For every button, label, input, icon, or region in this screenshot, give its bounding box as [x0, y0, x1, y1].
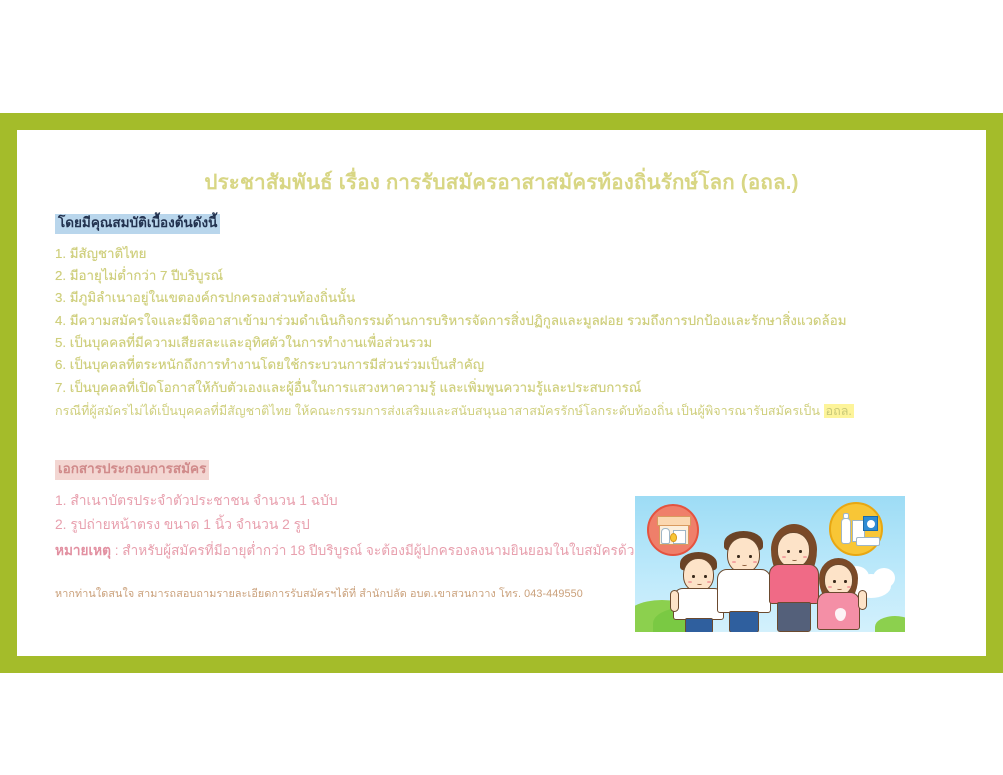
- qualification-note-text: กรณีที่ผู้สมัครไม่ได้เป็นบุคคลที่มีสัญชา…: [55, 404, 824, 418]
- eye-shape: [704, 575, 707, 578]
- remark-line: หมายเหตุ : สำหรับผู้สมัครที่มีอายุต่ำกว่…: [55, 539, 655, 563]
- cheek-shape: [707, 581, 711, 583]
- legs-shape: [777, 602, 811, 632]
- qualifications-heading: โดยมีคุณสมบัติเบื้องต้นดังนี้: [55, 214, 220, 234]
- eye-shape: [692, 575, 695, 578]
- documents-list: 1. สำเนาบัตรประจำตัวประชาชน จำนวน 1 ฉบับ…: [55, 489, 655, 538]
- list-item: 5. เป็นบุคคลที่มีความเสียสละและอุทิศตัวใ…: [55, 332, 817, 354]
- list-item: 1. มีสัญชาติไทย: [55, 243, 817, 265]
- eye-shape: [787, 550, 790, 553]
- carton-dot-shape: [867, 520, 875, 528]
- eye-shape: [833, 580, 836, 583]
- recyclable-items-icon: [829, 502, 883, 556]
- cheek-shape: [732, 561, 736, 563]
- cheek-shape: [847, 586, 851, 588]
- newspaper-bundle-shape: [856, 537, 880, 546]
- legs-shape: [729, 611, 759, 633]
- eye-shape: [737, 555, 740, 558]
- bulb-shape: [670, 533, 677, 542]
- qualification-note: กรณีที่ผู้สมัครไม่ได้เป็นบุคคลที่มีสัญชา…: [55, 400, 817, 422]
- list-item: 1. สำเนาบัตรประจำตัวประชาชน จำนวน 1 ฉบับ: [55, 489, 655, 514]
- eye-shape: [844, 580, 847, 583]
- mouth-shape: [742, 564, 747, 566]
- remark-label: หมายเหตุ: [55, 543, 111, 558]
- shirt-shape: [769, 564, 819, 604]
- poster-frame-inner: ประชาสัมพันธ์ เรื่อง การรับสมัครอาสาสมัค…: [17, 130, 986, 656]
- documents-heading: เอกสารประกอบการสมัคร: [55, 460, 209, 480]
- ground-strip: [635, 632, 905, 646]
- bottle-shape: [661, 528, 670, 544]
- arm-shape: [670, 590, 679, 612]
- waste-bag-icon: [647, 504, 699, 556]
- list-item: 7. เป็นบุคคลที่เปิดโอกาสให้กับตัวเองและผ…: [55, 377, 817, 399]
- family-recycling-illustration: [635, 496, 905, 646]
- list-item: 2. รูปถ่ายหน้าตรง ขนาด 1 นิ้ว จำนวน 2 รู…: [55, 513, 655, 538]
- list-item: 4. มีความสมัครใจและมีจิตอาสาเข้ามาร่วมดำ…: [55, 310, 817, 332]
- qualification-note-highlight: อถล.: [824, 404, 854, 418]
- arm-shape: [858, 590, 867, 610]
- head-shape: [727, 537, 760, 573]
- mouth-shape: [837, 588, 842, 590]
- cheek-shape: [753, 561, 757, 563]
- plastic-bottle-shape: [841, 518, 851, 544]
- cloud-icon: [873, 568, 895, 588]
- list-item: 2. มีอายุไม่ต่ำกว่า 7 ปีบริบูรณ์: [55, 265, 817, 287]
- child-girl-figure: [813, 556, 865, 632]
- qualifications-list: 1. มีสัญชาติไทย 2. มีอายุไม่ต่ำกว่า 7 ปี…: [55, 243, 817, 399]
- footer-contact: หากท่านใดสนใจ สามารถสอบถามรายละเอียดการร…: [55, 585, 583, 602]
- cheek-shape: [688, 581, 692, 583]
- cheek-shape: [828, 586, 832, 588]
- qualifications-section: โดยมีคุณสมบัติเบื้องต้นดังนี้ 1. มีสัญชา…: [55, 214, 817, 422]
- documents-section: เอกสารประกอบการสมัคร 1. สำเนาบัตรประจำตั…: [55, 460, 655, 563]
- poster-canvas: ประชาสัมพันธ์ เรื่อง การรับสมัครอาสาสมัค…: [0, 0, 1003, 775]
- mouth-shape: [697, 583, 702, 585]
- cheek-shape: [803, 556, 807, 558]
- list-item: 6. เป็นบุคคลที่ตระหนักถึงการทำงานโดยใช้ก…: [55, 354, 817, 376]
- bottle-cap-shape: [843, 513, 849, 519]
- head-shape: [683, 558, 714, 592]
- eye-shape: [799, 550, 802, 553]
- head-shape: [777, 532, 810, 568]
- poster-frame: ประชาสัมพันธ์ เรื่อง การรับสมัครอาสาสมัค…: [0, 113, 1003, 673]
- remark-text: : สำหรับผู้สมัครที่มีอายุต่ำกว่า 18 ปีบร…: [111, 543, 642, 558]
- page-title: ประชาสัมพันธ์ เรื่อง การรับสมัครอาสาสมัค…: [17, 166, 986, 199]
- mouth-shape: [792, 559, 797, 561]
- list-item: 3. มีภูมิลำเนาอยู่ในเขตองค์กรปกครองส่วนท…: [55, 287, 817, 309]
- cheek-shape: [782, 556, 786, 558]
- eye-shape: [749, 555, 752, 558]
